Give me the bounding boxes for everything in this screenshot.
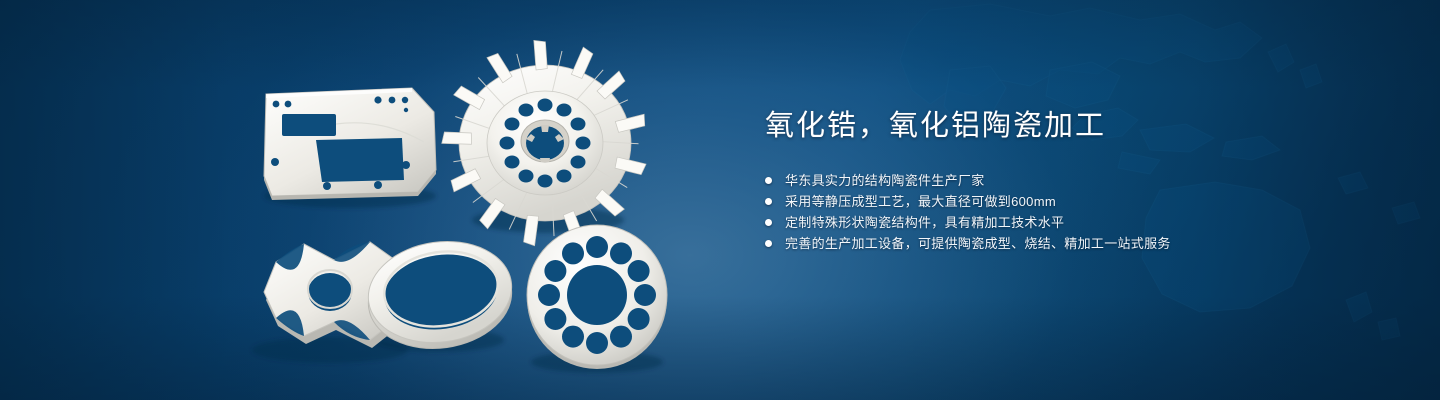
ceramic-perforated-disc-graphic <box>527 225 667 369</box>
bullet-dot-icon <box>765 219 772 226</box>
ceramic-plate-graphic <box>264 88 436 200</box>
bullet-dot-icon <box>765 198 772 205</box>
list-item-label: 华东具实力的结构陶瓷件生产厂家 <box>785 170 985 191</box>
list-item: 华东具实力的结构陶瓷件生产厂家 <box>765 170 1405 191</box>
product-photo-collage <box>0 0 760 400</box>
banner-copy: 氧化锆，氧化铝陶瓷加工 华东具实力的结构陶瓷件生产厂家 采用等静压成型工艺，最大… <box>765 104 1405 254</box>
page-title: 氧化锆，氧化铝陶瓷加工 <box>765 104 1405 148</box>
bullet-dot-icon <box>765 240 772 247</box>
list-item-label: 定制特殊形状陶瓷结构件，具有精加工技术水平 <box>785 212 1064 233</box>
list-item: 定制特殊形状陶瓷结构件，具有精加工技术水平 <box>765 212 1405 233</box>
hero-banner: 氧化锆，氧化铝陶瓷加工 华东具实力的结构陶瓷件生产厂家 采用等静压成型工艺，最大… <box>0 0 1440 400</box>
list-item-label: 完善的生产加工设备，可提供陶瓷成型、烧结、精加工一站式服务 <box>785 233 1171 254</box>
list-item-label: 采用等静压成型工艺，最大直径可做到600mm <box>785 191 1056 212</box>
bullet-dot-icon <box>765 177 772 184</box>
list-item: 完善的生产加工设备，可提供陶瓷成型、烧结、精加工一站式服务 <box>765 233 1405 254</box>
list-item: 采用等静压成型工艺，最大直径可做到600mm <box>765 191 1405 212</box>
feature-list: 华东具实力的结构陶瓷件生产厂家 采用等静压成型工艺，最大直径可做到600mm 定… <box>765 170 1405 254</box>
